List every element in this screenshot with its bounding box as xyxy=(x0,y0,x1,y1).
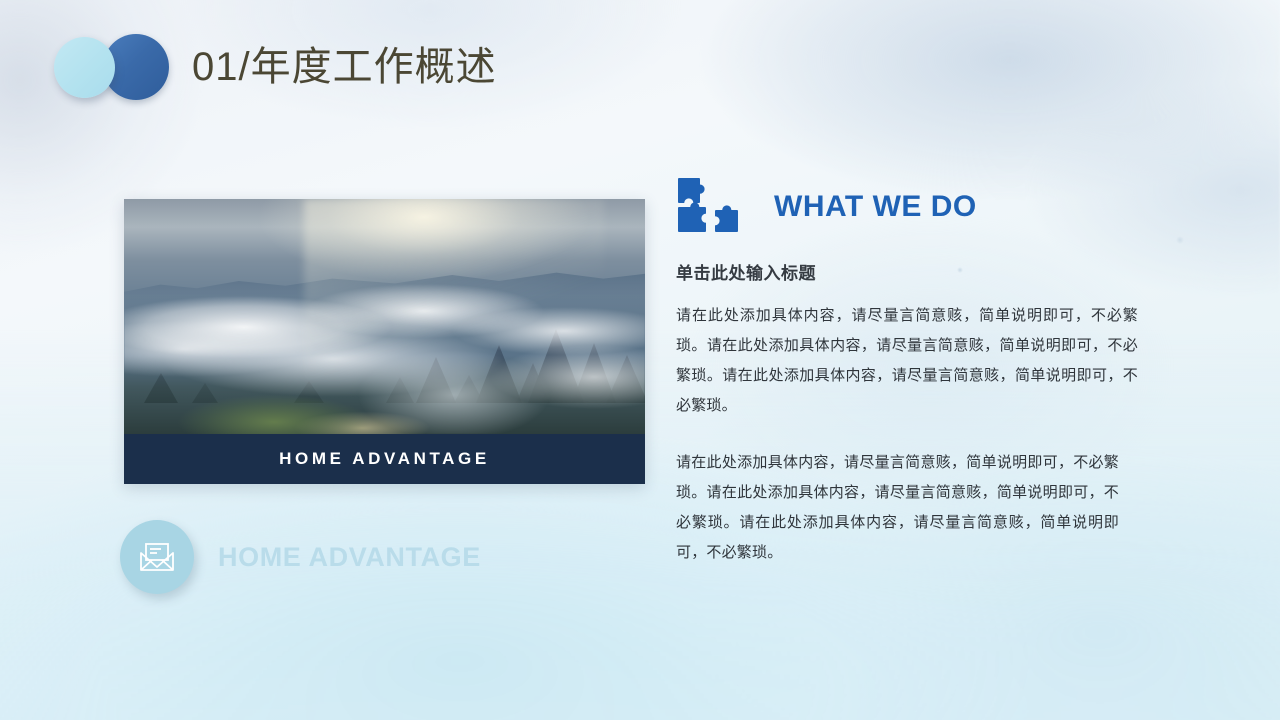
envelope-icon xyxy=(139,542,175,572)
content-heading: WHAT WE DO xyxy=(774,190,977,224)
content-subtitle: 单击此处输入标题 xyxy=(676,259,1166,284)
photo-caption-bar: HOME ADVANTAGE xyxy=(124,434,645,484)
slide-header: 01/年度工作概述 xyxy=(54,32,497,102)
content-column: WHAT WE DO 单击此处输入标题 请在此处添加具体内容，请尽量言简意赅，简… xyxy=(676,175,1166,568)
home-advantage-badge[interactable]: HOME ADVANTAGE xyxy=(120,520,481,594)
header-circles xyxy=(54,34,170,100)
content-paragraph-2: 请在此处添加具体内容，请尽量言简意赅，简单说明即可，不必繁琐。请在此处添加具体内… xyxy=(676,448,1119,568)
badge-label: HOME ADVANTAGE xyxy=(218,542,481,573)
mountain-photo xyxy=(124,199,645,434)
light-blue-circle xyxy=(54,37,115,98)
photo-sun-rays xyxy=(304,199,604,399)
puzzle-pieces-icon xyxy=(676,176,742,238)
photo-caption-text: HOME ADVANTAGE xyxy=(279,449,490,469)
content-heading-row: WHAT WE DO xyxy=(676,175,1166,239)
page-title: 01/年度工作概述 xyxy=(192,47,497,87)
content-paragraph-1: 请在此处添加具体内容，请尽量言简意赅，简单说明即可，不必繁琐。请在此处添加具体内… xyxy=(676,301,1138,421)
slide-canvas: 01/年度工作概述 HOME ADVANT xyxy=(0,0,1280,720)
photo-card: HOME ADVANTAGE xyxy=(124,199,645,484)
badge-circle xyxy=(120,520,194,594)
